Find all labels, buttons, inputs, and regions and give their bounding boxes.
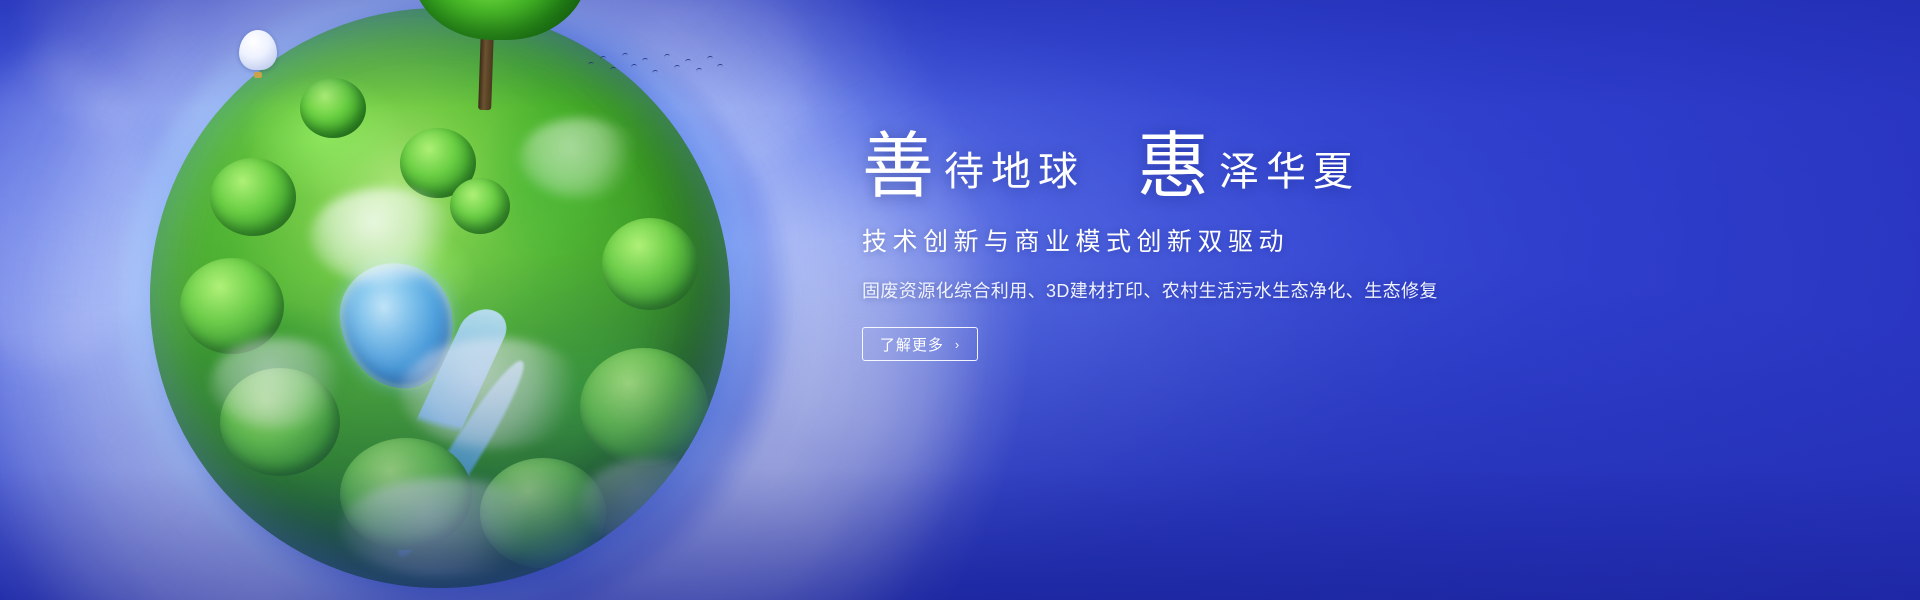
bird-icon	[622, 53, 628, 57]
headline-part1-secondary: 待地球	[934, 152, 1085, 192]
bird-icon	[664, 54, 670, 58]
bird-icon	[588, 62, 594, 66]
headline-part2-secondary: 泽华夏	[1209, 152, 1360, 192]
bird-flock	[586, 48, 726, 88]
hero-description: 固废资源化综合利用、3D建材打印、农村生活污水生态净化、生态修复	[862, 277, 1522, 303]
bird-icon	[610, 67, 616, 71]
bird-icon	[600, 56, 606, 60]
hero-subtitle: 技术创新与商业模式创新双驱动	[862, 222, 1522, 258]
bird-icon	[707, 56, 713, 60]
bird-icon	[696, 68, 702, 72]
headline-part2-primary: 惠	[1137, 130, 1209, 202]
balloon-envelope	[239, 30, 277, 70]
bird-icon	[652, 70, 658, 74]
bird-icon	[642, 58, 648, 62]
hero-banner: 善 待地球 惠 泽华夏 技术创新与商业模式创新双驱动 固废资源化综合利用、3D建…	[0, 0, 1920, 600]
bird-icon	[717, 64, 723, 68]
headline-part1-primary: 善	[862, 130, 934, 202]
bird-icon	[685, 59, 691, 63]
balloon-basket	[254, 72, 262, 78]
hot-air-balloon-icon	[239, 30, 277, 78]
chevron-right-icon: ›	[955, 338, 960, 351]
learn-more-button[interactable]: 了解更多 ›	[862, 327, 978, 361]
hero-content: 善 待地球 惠 泽华夏 技术创新与商业模式创新双驱动 固废资源化综合利用、3D建…	[862, 126, 1522, 361]
learn-more-label: 了解更多	[880, 334, 944, 355]
bird-icon	[631, 64, 637, 68]
bird-icon	[674, 65, 680, 69]
hero-headline: 善 待地球 惠 泽华夏	[862, 126, 1522, 198]
